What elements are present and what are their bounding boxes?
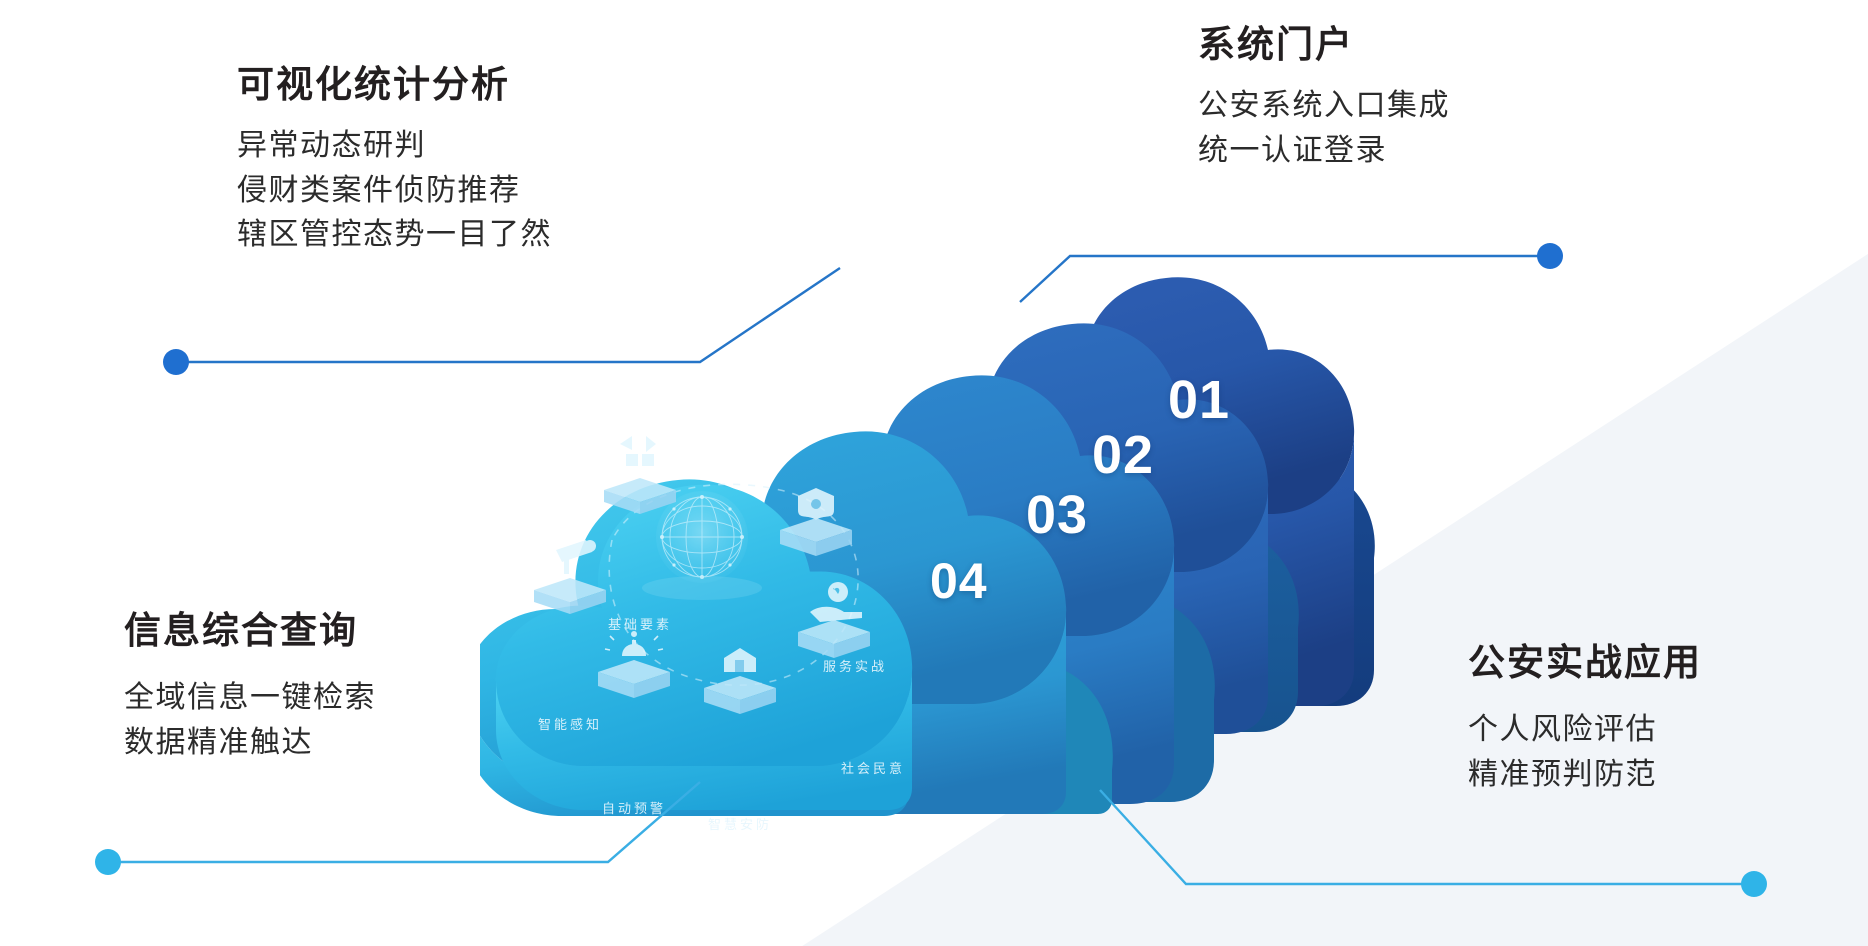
callout-title-system-portal: 系统门户 [1198, 22, 1450, 68]
callout-title-visual-statistics: 可视化统计分析 [237, 62, 552, 108]
connector-police-combat [1100, 790, 1754, 884]
callout-line-portal-2: 统一认证登录 [1198, 129, 1450, 173]
callout-information-query: 信息综合查询 全域信息一键检索 数据精准触达 [124, 608, 376, 765]
connector-visual-statistics [176, 268, 840, 362]
node-basic-elements: 基础要素 [580, 613, 700, 633]
connector-information-query [108, 782, 700, 862]
callout-system-portal: 系统门户 公安系统入口集成 统一认证登录 [1198, 22, 1450, 173]
node-label-smart-security: 智慧安防 [680, 817, 800, 833]
infographic-canvas: 01 02 03 04 基础要素 服务实战 智能感知 社会民意 自动预警 智慧安… [0, 0, 1868, 946]
node-label-smart-perception: 智能感知 [510, 717, 630, 733]
callout-line-visual-1: 异常动态研判 [237, 124, 552, 168]
callout-title-police-combat: 公安实战应用 [1468, 640, 1702, 686]
node-social-livelihood: 社会民意 [813, 757, 933, 777]
callout-line-query-2: 数据精准触达 [124, 721, 376, 765]
callout-line-visual-3: 辖区管控态势一目了然 [237, 213, 552, 257]
connector-dot-system-portal [1537, 243, 1563, 269]
callout-visual-statistics: 可视化统计分析 异常动态研判 侵财类案件侦防推荐 辖区管控态势一目了然 [237, 62, 552, 257]
cloud-number-03: 03 [1026, 488, 1088, 542]
node-auto-alarm: 自动预警 [574, 797, 694, 817]
cloud-number-01: 01 [1168, 373, 1230, 427]
connector-system-portal [1020, 256, 1550, 302]
node-label-service-combat: 服务实战 [795, 659, 915, 675]
connector-dot-police-combat [1741, 871, 1767, 897]
callout-title-information-query: 信息综合查询 [124, 608, 376, 654]
node-smart-perception: 智能感知 [510, 713, 630, 733]
node-service-combat: 服务实战 [795, 655, 915, 675]
node-label-social-livelihood: 社会民意 [813, 761, 933, 777]
node-label-basic-elements: 基础要素 [580, 617, 700, 633]
cloud-number-04: 04 [930, 556, 988, 606]
node-smart-security: 智慧安防 [680, 813, 800, 833]
callout-line-visual-2: 侵财类案件侦防推荐 [237, 169, 552, 213]
node-label-auto-alarm: 自动预警 [574, 801, 694, 817]
callout-line-portal-1: 公安系统入口集成 [1198, 84, 1450, 128]
callout-line-combat-1: 个人风险评估 [1468, 708, 1702, 752]
callout-line-combat-2: 精准预判防范 [1468, 753, 1702, 797]
connector-dot-information-query [95, 849, 121, 875]
callout-police-combat: 公安实战应用 个人风险评估 精准预判防范 [1468, 640, 1702, 797]
connector-dot-visual-statistics [163, 349, 189, 375]
cloud-number-02: 02 [1092, 428, 1154, 482]
callout-line-query-1: 全域信息一键检索 [124, 676, 376, 720]
